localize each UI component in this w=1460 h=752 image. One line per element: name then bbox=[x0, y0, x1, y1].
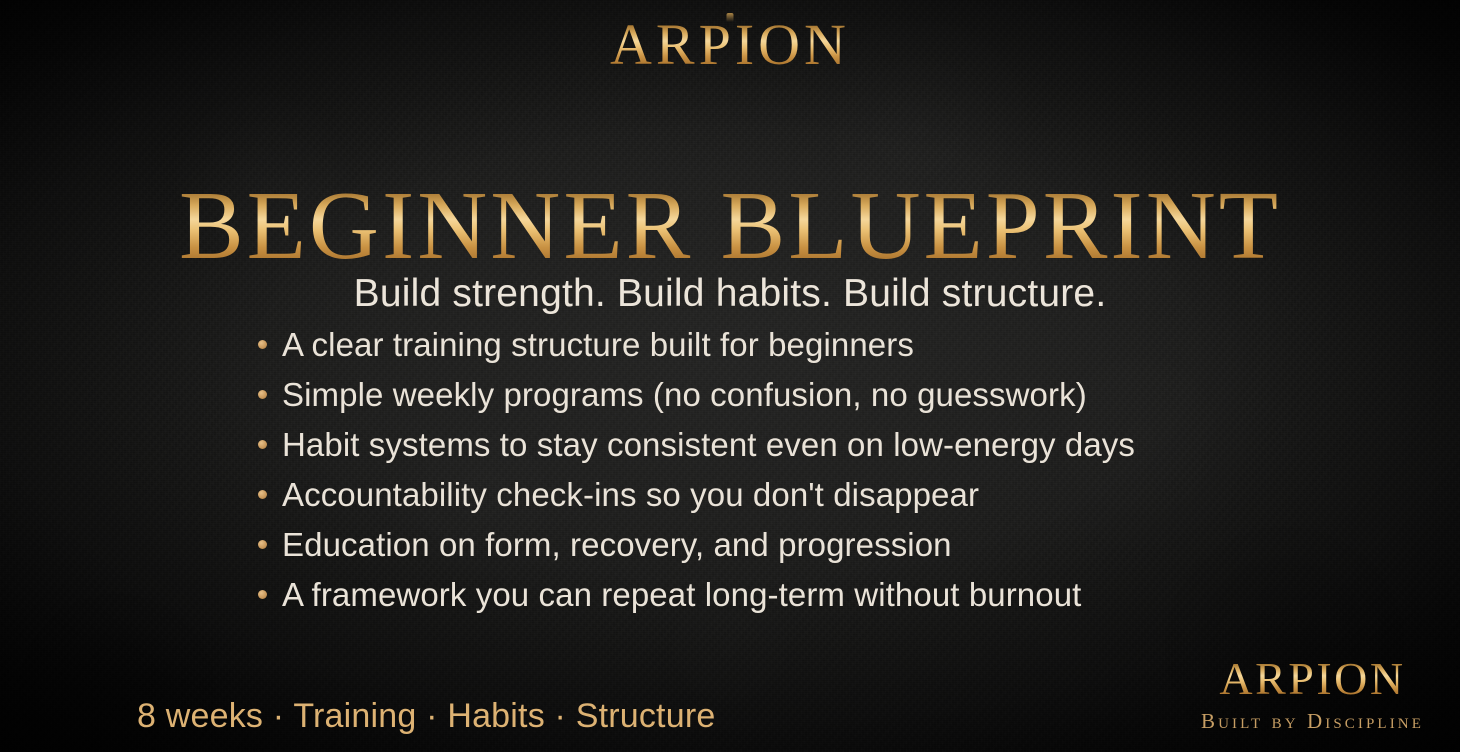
list-item-label: Simple weekly programs (no confusion, no… bbox=[282, 376, 1087, 414]
list-item-label: A clear training structure built for beg… bbox=[282, 326, 914, 364]
top-wordmark: ARPION bbox=[610, 16, 850, 74]
promo-slide: ARPION BEGINNER BLUEPRINT Build strength… bbox=[0, 0, 1460, 752]
top-brand-lockup: ARPION bbox=[0, 16, 1460, 74]
list-item-label: A framework you can repeat long-term wit… bbox=[282, 576, 1081, 614]
list-item: Accountability check-ins so you don't di… bbox=[258, 476, 1400, 526]
list-item: Education on form, recovery, and progres… bbox=[258, 526, 1400, 576]
list-item: Simple weekly programs (no confusion, no… bbox=[258, 376, 1400, 426]
bullet-dot-icon bbox=[258, 540, 267, 549]
list-item-label: Education on form, recovery, and progres… bbox=[282, 526, 952, 564]
list-item-label: Habit systems to stay consistent even on… bbox=[282, 426, 1135, 464]
bullet-dot-icon bbox=[258, 440, 267, 449]
list-item-label: Accountability check-ins so you don't di… bbox=[282, 476, 979, 514]
footer-wordmark: ARPION bbox=[1201, 656, 1424, 702]
bullet-dot-icon bbox=[258, 390, 267, 399]
top-ornament-icon bbox=[727, 13, 734, 22]
list-item: Habit systems to stay consistent even on… bbox=[258, 426, 1400, 476]
footer-brand-lockup: ARPION Built by Discipline bbox=[1201, 656, 1424, 732]
bullet-dot-icon bbox=[258, 490, 267, 499]
bullet-dot-icon bbox=[258, 340, 267, 349]
footer-meta-text: 8 weeks · Training · Habits · Structure bbox=[137, 697, 715, 736]
page-subtitle: Build strength. Build habits. Build stru… bbox=[354, 271, 1107, 318]
bullet-dot-icon bbox=[258, 590, 267, 599]
footer-tagline: Built by Discipline bbox=[1201, 711, 1424, 732]
list-item: A framework you can repeat long-term wit… bbox=[258, 576, 1400, 626]
feature-list: A clear training structure built for beg… bbox=[258, 326, 1400, 626]
list-item: A clear training structure built for beg… bbox=[258, 326, 1400, 376]
